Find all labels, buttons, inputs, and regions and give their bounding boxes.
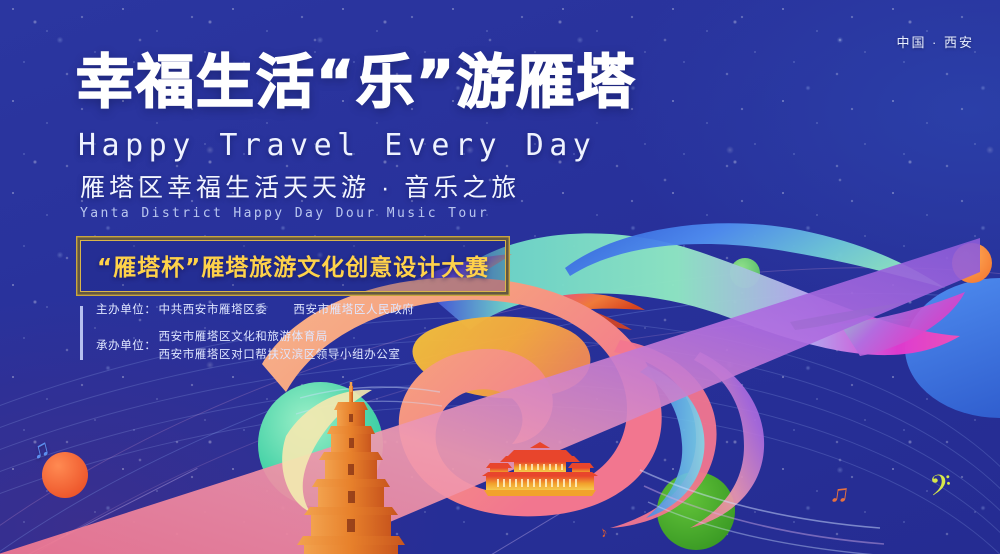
title-english-tagline: Happy Travel Every Day [78, 128, 596, 163]
organizer-value: 西安市雁塔区对口帮扶汉滨区领导小组办公室 [159, 347, 401, 365]
subtitle-english: Yanta District Happy Day Dour Music Tour [80, 206, 489, 221]
host-value: 中共西安市雁塔区委 [159, 302, 268, 320]
contest-title-box: “雁塔杯”雁塔旅游文化创意设计大赛 [80, 240, 506, 292]
clef-icon: 𝄢 [928, 469, 954, 510]
corner-location-tag: 中国 · 西安 [896, 32, 974, 51]
organizer-label: 承办单位： [96, 338, 157, 356]
music-note-icon: ♫ [29, 434, 53, 466]
organizer-value: 西安市雁塔区文化和旅游体育局 [159, 329, 401, 347]
organizer-block: 主办单位： 中共西安市雁塔区委 西安市雁塔区人民政府 承办单位： 西安市雁塔区文… [80, 302, 414, 364]
organizer-row: 承办单位： 西安市雁塔区文化和旅游体育局 西安市雁塔区对口帮扶汉滨区领导小组办公… [96, 329, 414, 365]
host-value: 西安市雁塔区人民政府 [293, 302, 414, 320]
poster-root: 中国 · 西安 幸福生活“乐”游雁塔 Happy Travel Every Da… [0, 0, 1000, 554]
host-label: 主办单位： [96, 302, 157, 320]
page-title: 幸福生活“乐”游雁塔 [76, 52, 636, 112]
music-note-icon: ♫ [828, 477, 852, 510]
contest-title-text: “雁塔杯”雁塔旅游文化创意设计大赛 [97, 255, 489, 281]
subtitle-chinese: 雁塔区幸福生活天天游 · 音乐之旅 [80, 168, 520, 204]
text-content-layer: 中国 · 西安 幸福生活“乐”游雁塔 Happy Travel Every Da… [0, 0, 1000, 554]
organizer-accent-bar [80, 306, 83, 360]
music-note-icon: ♪ [597, 523, 610, 542]
host-row: 主办单位： 中共西安市雁塔区委 西安市雁塔区人民政府 [96, 302, 414, 320]
